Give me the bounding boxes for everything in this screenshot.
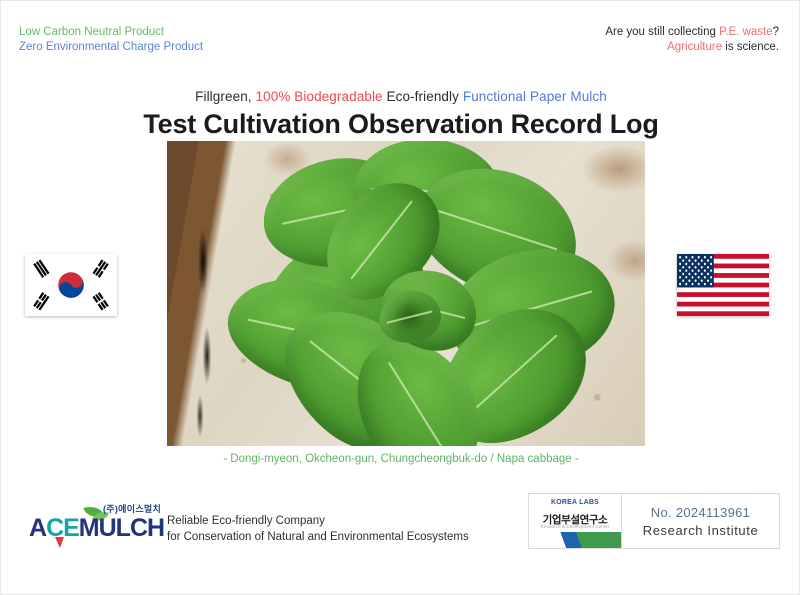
united-states-flag	[677, 254, 769, 316]
research-institute-certification: KOREA LABS 기업부설연구소 Research & Developmen…	[528, 493, 780, 549]
document-subtitle: Fillgreen, 100% Biodegradable Eco-friend…	[1, 89, 800, 104]
pe-waste-highlight: P.E. waste	[719, 26, 773, 38]
cert-institute-label: Research Institute	[643, 523, 759, 538]
subtitle-fillgreen: Fillgreen,	[195, 89, 255, 104]
cert-badge-wave-graphic	[529, 532, 621, 548]
photo-caption: - Dongi-myeon, Okcheon-gun, Chungcheongb…	[1, 453, 800, 465]
subtitle-biodegradable: 100% Biodegradable	[256, 89, 383, 104]
logo-letter-a: A	[29, 514, 46, 542]
tagline-line-1: Reliable Eco-friendly Company	[167, 513, 469, 529]
pe-waste-suffix: ?	[773, 26, 779, 38]
cert-badge: KOREA LABS 기업부설연구소 Research & Developmen…	[529, 494, 622, 548]
acemulch-logo: (주)에이스멀치 ACEMULCH	[29, 501, 179, 547]
south-korea-flag	[25, 254, 117, 316]
page-title: Test Cultivation Observation Record Log	[1, 109, 800, 140]
pe-waste-prefix: Are you still collecting	[605, 26, 719, 38]
subtitle-eco-friendly: Eco-friendly	[383, 89, 463, 104]
subtitle-functional-paper-mulch: Functional Paper Mulch	[463, 89, 607, 104]
logo-wordmark: ACEMULCH	[29, 514, 164, 543]
document-page: Low Carbon Neutral Product Zero Environm…	[0, 0, 800, 595]
agriculture-suffix: is science.	[722, 41, 779, 53]
slogan-agriculture-line: Agriculture is science.	[605, 40, 779, 55]
cert-details: No. 2024113961 Research Institute	[622, 494, 779, 548]
cert-badge-subtitle: Research & Development Center	[529, 524, 621, 529]
united-states-flag-svg	[677, 254, 769, 316]
south-korea-flag-svg	[25, 254, 117, 316]
cert-number: No. 2024113961	[651, 505, 750, 520]
slogan-zero-environmental: Zero Environmental Charge Product	[19, 40, 203, 55]
agriculture-highlight: Agriculture	[667, 41, 722, 53]
header-right-slogan: Are you still collecting P.E. waste? Agr…	[605, 25, 779, 55]
company-tagline: Reliable Eco-friendly Company for Conser…	[167, 513, 469, 545]
header-left-slogan: Low Carbon Neutral Product Zero Environm…	[19, 25, 203, 55]
cultivation-photo	[167, 141, 645, 446]
slogan-pe-waste-line: Are you still collecting P.E. waste?	[605, 25, 779, 40]
tagline-line-2: for Conservation of Natural and Environm…	[167, 529, 469, 545]
slogan-low-carbon: Low Carbon Neutral Product	[19, 25, 203, 40]
cert-badge-logo-text: KOREA LABS	[529, 499, 621, 506]
logo-letters-mulch: MULCH	[79, 514, 164, 542]
